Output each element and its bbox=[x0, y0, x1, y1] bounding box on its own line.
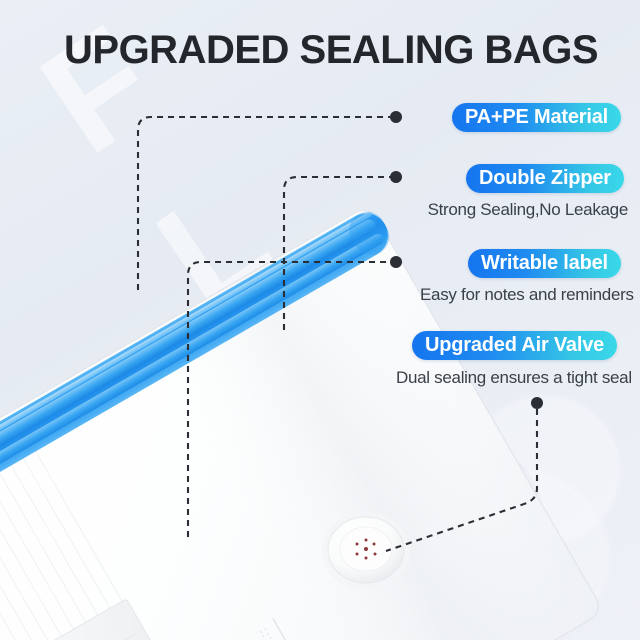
feature-badge-double-zipper[interactable]: Double Zipper bbox=[466, 164, 624, 193]
feature-badge-pa-pe-material[interactable]: PA+PE Material bbox=[452, 103, 621, 132]
feature-caption-writable-label: Easy for notes and reminders bbox=[420, 285, 628, 305]
connector-dot-writable-label bbox=[390, 256, 402, 268]
infographic-canvas: F L U Q bbox=[0, 0, 640, 640]
page-title: UPGRADED SEALING BAGS bbox=[64, 28, 624, 73]
connector-lines bbox=[0, 0, 640, 640]
feature-badge-writable-label[interactable]: Writable label bbox=[468, 249, 621, 278]
connector-dot-upgraded-air-valve bbox=[531, 397, 543, 409]
connector-line-double-zipper bbox=[284, 177, 392, 330]
connector-line-pa-pe-material bbox=[138, 117, 392, 290]
connector-line-writable-label bbox=[188, 262, 392, 537]
feature-badge-upgraded-air-valve[interactable]: Upgraded Air Valve bbox=[412, 331, 617, 360]
connector-line-upgraded-air-valve bbox=[386, 409, 537, 551]
feature-caption-double-zipper: Strong Sealing,No Leakage bbox=[422, 200, 628, 220]
connector-dot-double-zipper bbox=[390, 171, 402, 183]
feature-caption-upgraded-air-valve: Dual sealing ensures a tight seal bbox=[396, 368, 628, 388]
connector-dot-pa-pe-material bbox=[390, 111, 402, 123]
